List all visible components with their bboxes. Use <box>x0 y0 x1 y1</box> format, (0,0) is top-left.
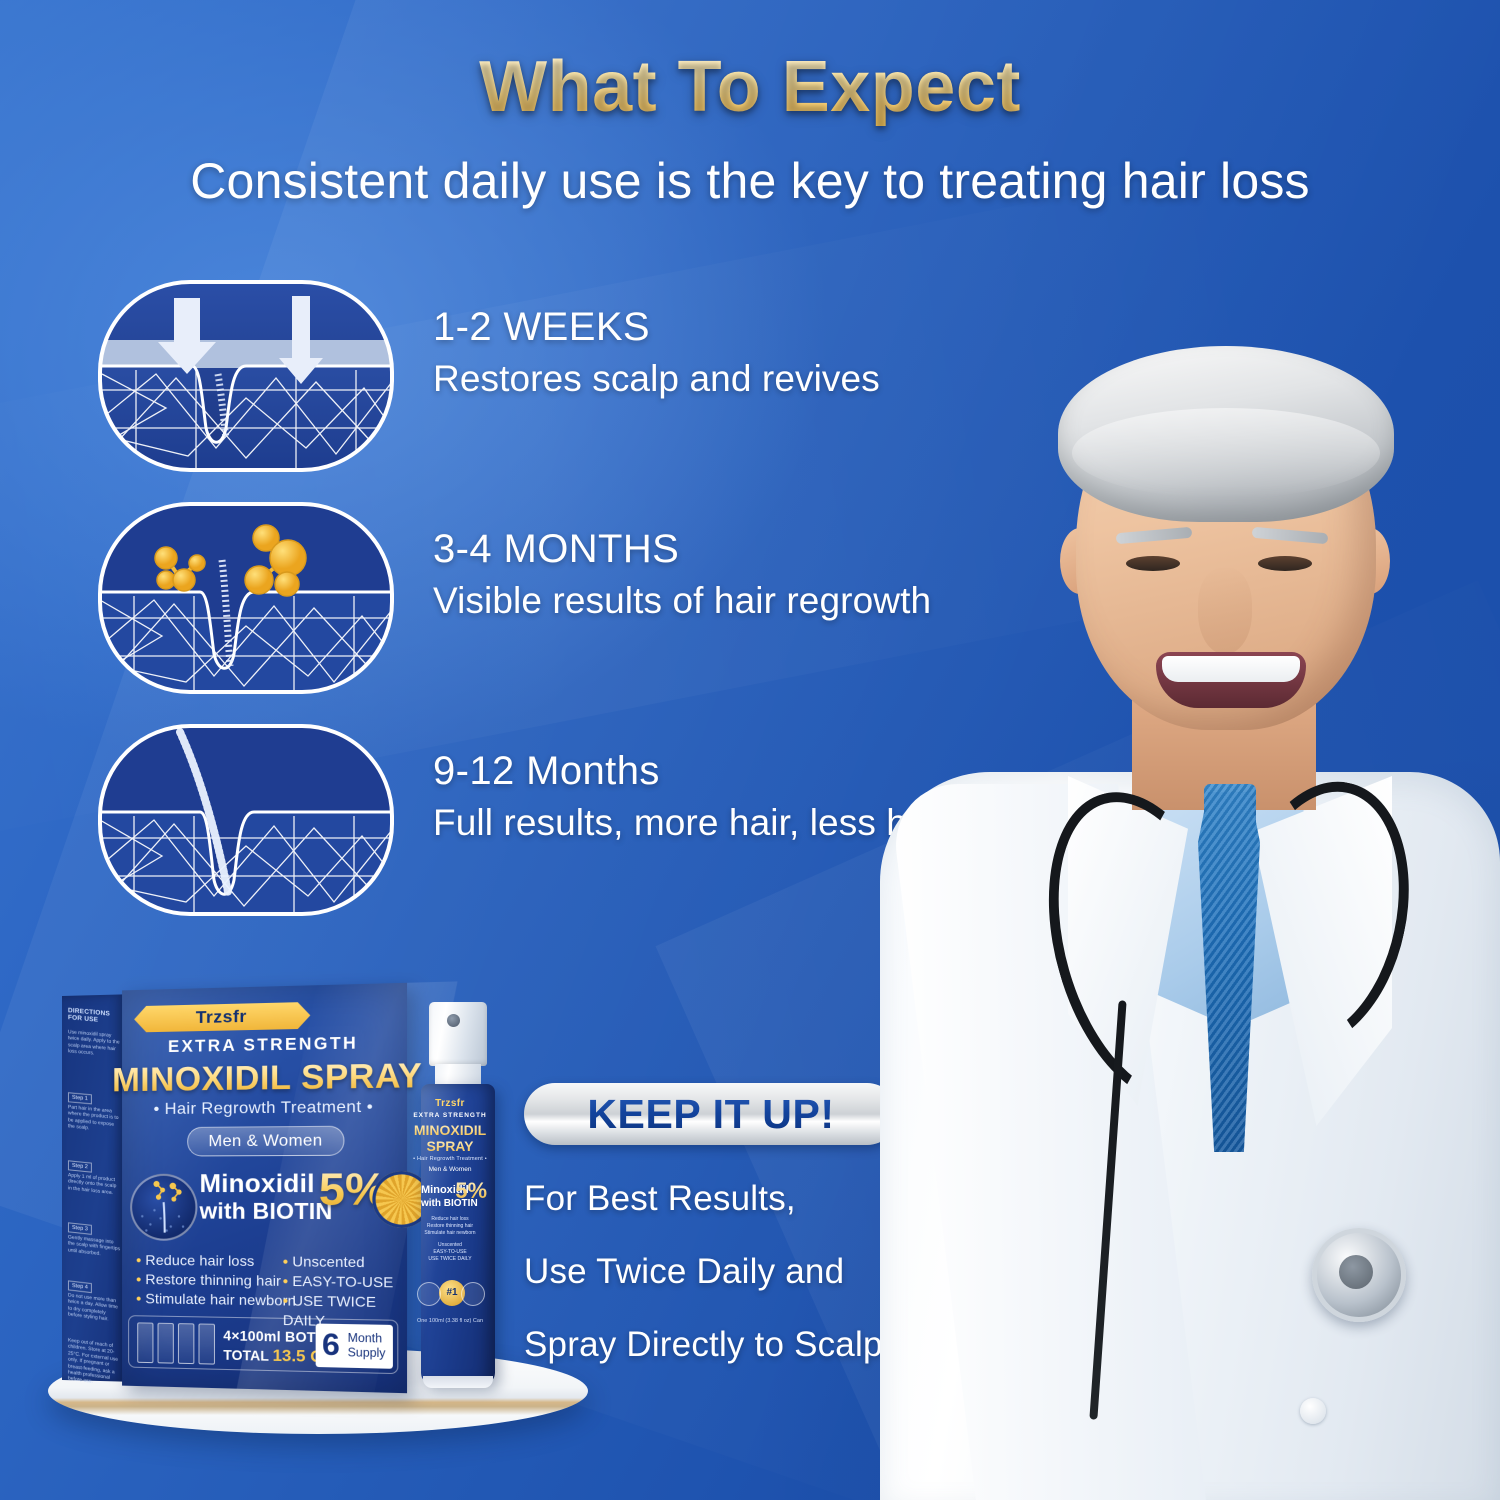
bottle-percent: 5% <box>413 1180 494 1202</box>
step-text: Part hair in the area where the product … <box>68 1104 120 1135</box>
bottle-icons <box>137 1322 215 1364</box>
bottle-strength: EXTRA STRENGTH <box>413 1112 487 1119</box>
spray-nozzle-icon <box>447 1014 460 1027</box>
keep-it-up-label: KEEP IT UP! <box>524 1083 898 1145</box>
cta-line: Spray Directly to Scalp. <box>524 1327 924 1362</box>
eye-left <box>1126 556 1180 571</box>
bottle-benefits-right: Unscented EASY-TO-USE USE TWICE DAILY <box>413 1242 487 1263</box>
bottle-icon <box>137 1322 153 1363</box>
step-text: Do not use more than twice a day. Allow … <box>68 1292 120 1324</box>
keep-it-up-badge: KEEP IT UP! <box>524 1083 898 1145</box>
bottle-audience: Men & Women <box>413 1166 487 1173</box>
bottle-treatment: • Hair Regrowth Treatment • <box>413 1156 487 1162</box>
total-label: TOTAL <box>223 1347 268 1363</box>
benefit-item: EASY-TO-USE <box>292 1273 393 1291</box>
lab-tested-badge-icon <box>461 1282 485 1306</box>
coat-button <box>1300 1398 1326 1424</box>
teeth <box>1162 656 1300 682</box>
stethoscope-tube-right <box>1210 765 1432 1064</box>
bottle-base <box>423 1376 493 1388</box>
cta-instructions: For Best Results, Use Twice Daily and Sp… <box>524 1181 924 1362</box>
eye-right <box>1258 556 1312 571</box>
bottle-benefits-left: Reduce hair loss Restore thinning hair S… <box>413 1216 487 1237</box>
page-subtitle: Consistent daily use is the key to treat… <box>0 152 1500 210</box>
follicle-illustration-icon <box>130 1174 197 1241</box>
stethoscope-icon <box>880 750 1500 1450</box>
brand-label: Trzsfr <box>134 1002 310 1033</box>
directions-step: Step 2 Apply 1 ml of product directly on… <box>68 1153 120 1197</box>
bottle-brand: Trzsfr <box>413 1098 487 1109</box>
active-ingredient-line2: with BIOTIN <box>200 1198 333 1225</box>
scalp-absorption-icon <box>96 278 396 474</box>
benefit-item: Stimulate hair newborn <box>145 1290 296 1309</box>
audience-label: Men & Women <box>187 1126 344 1157</box>
scalp-nutrients-icon <box>96 500 396 696</box>
product-box-side-panel: DIRECTIONS FOR USE Use minoxidil spray t… <box>62 994 124 1381</box>
bottle-icon <box>178 1323 194 1364</box>
smiling-mouth <box>1156 652 1306 708</box>
timeline-period: 1-2 WEEKS <box>433 304 1153 351</box>
directions-step: Step 3 Gently massage into the scalp wit… <box>68 1215 120 1259</box>
bottle-name-line1: MINOXIDIL <box>413 1122 487 1138</box>
bottle-cap <box>429 1002 487 1066</box>
supply-text: Month Supply <box>348 1331 386 1361</box>
treatment-label: • Hair Regrowth Treatment • <box>122 1098 407 1119</box>
benefit-item: Unscented <box>292 1253 364 1270</box>
cta-line: For Best Results, <box>524 1181 924 1216</box>
product-package: DIRECTIONS FOR USE Use minoxidil spray t… <box>38 980 598 1450</box>
supply-number: 6 <box>322 1328 340 1364</box>
quantity-panel: 4×100ml BOTTLES TOTAL 13.5 OZ 6 Month Su… <box>128 1315 398 1374</box>
nose <box>1198 568 1252 654</box>
bottle-name-line2: SPRAY <box>413 1138 487 1154</box>
step-label: Step 4 <box>68 1280 92 1293</box>
cruelty-free-badge-icon <box>417 1282 441 1306</box>
product-infographic: What To Expect Consistent daily use is t… <box>0 0 1500 1500</box>
doctor-hair <box>1058 346 1394 522</box>
benefit-item: Restore thinning hair <box>145 1271 281 1289</box>
step-text: Gently massage into the scalp with finge… <box>68 1234 120 1259</box>
product-box: DIRECTIONS FOR USE Use minoxidil spray t… <box>62 983 405 1393</box>
product-name: MINOXIDIL SPRAY <box>110 1056 425 1100</box>
bottle-icon <box>198 1323 215 1364</box>
cta-line: Use Twice Daily and <box>524 1254 924 1289</box>
step-label: Step 3 <box>68 1222 92 1235</box>
cta-block: KEEP IT UP! For Best Results, Use Twice … <box>524 1083 924 1400</box>
bottle-neck <box>435 1064 481 1086</box>
directions-footer: Keep out of reach of children. Store at … <box>68 1337 120 1389</box>
page-title: What To Expect <box>0 46 1500 128</box>
step-label: Step 2 <box>68 1160 92 1172</box>
bottle-volume: One 100ml (3.38 fl oz) Can <box>413 1318 487 1324</box>
stethoscope-chestpiece <box>1312 1228 1406 1322</box>
directions-step: Step 4 Do not use more than twice a day.… <box>68 1273 120 1324</box>
scalp-full-hair-icon <box>96 722 396 918</box>
bottle-icon <box>158 1323 174 1364</box>
directions-intro: Use minoxidil spray twice daily. Apply t… <box>68 1029 120 1059</box>
benefits-left: • Reduce hair loss • Restore thinning ha… <box>136 1251 296 1311</box>
step-label: Step 1 <box>68 1092 92 1104</box>
active-ingredient-line1: Minoxidil <box>200 1169 315 1199</box>
spray-bottle: Trzsfr EXTRA STRENGTH MINOXIDIL SPRAY • … <box>413 1002 505 1392</box>
directions-heading: DIRECTIONS FOR USE <box>68 1007 120 1025</box>
supply-badge: 6 Month Supply <box>316 1324 393 1369</box>
step-text: Apply 1 ml of product directly onto the … <box>68 1172 120 1197</box>
doctor-photo <box>880 352 1500 1500</box>
benefit-item: Reduce hair loss <box>145 1252 254 1269</box>
